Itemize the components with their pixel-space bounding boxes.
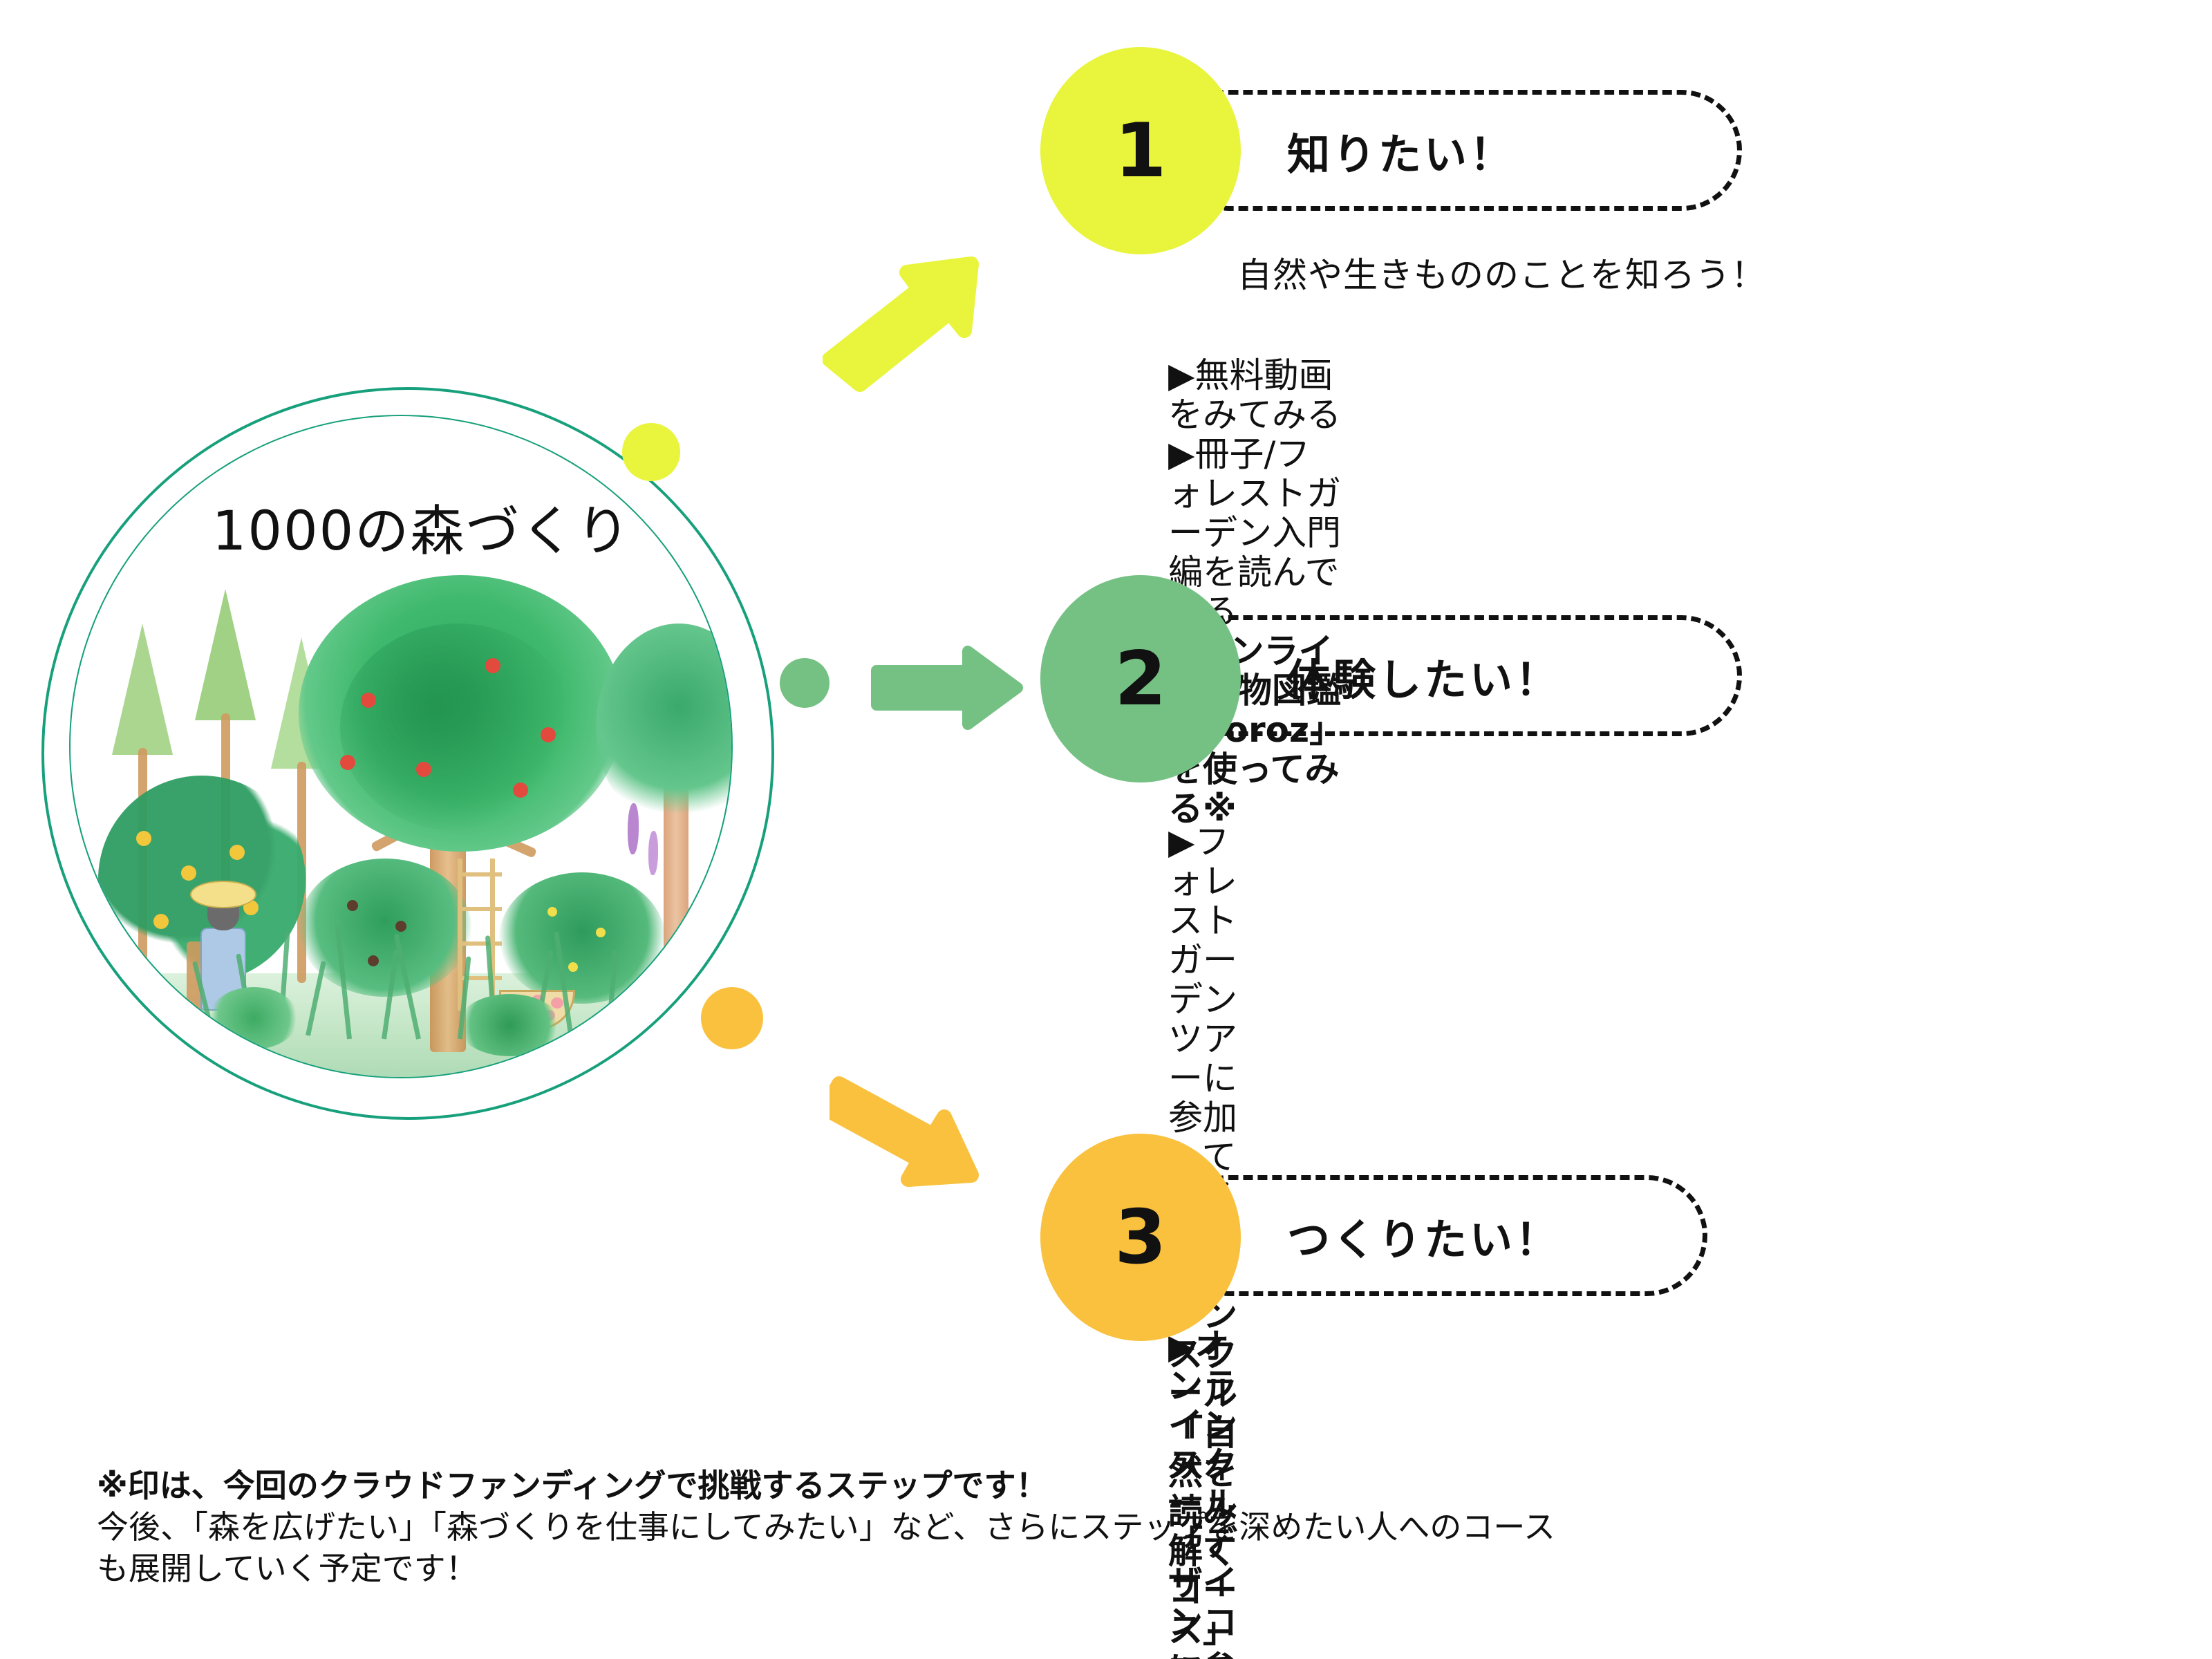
step-2-pill[interactable]: 体験したい！ xyxy=(1168,615,1742,736)
footer-line-2: 今後、「森を広げたい」「森づくりを仕事にしてみたい」など、さらにステップを深めた… xyxy=(97,1507,2157,1548)
citrus-fruit xyxy=(153,914,169,929)
citrus-fruit xyxy=(181,865,196,881)
step-3-heading: つくりたい！ xyxy=(1287,1205,1561,1267)
arrow-to-step-1-icon xyxy=(823,256,1002,394)
illustration-title: 1000の森づくり xyxy=(180,488,664,565)
step-3-number-badge[interactable]: 3 xyxy=(1040,1134,1241,1341)
tree-berry xyxy=(513,782,528,798)
step-1-pill[interactable]: 知りたい！ xyxy=(1168,90,1742,211)
shrub-berry xyxy=(347,900,358,911)
tree-berry xyxy=(485,658,500,673)
tree-berry xyxy=(416,762,431,777)
step-1-number-badge[interactable]: 1 xyxy=(1040,47,1241,254)
shrub-berry xyxy=(368,955,379,966)
tree-trunk xyxy=(187,941,202,1052)
gardener-hat xyxy=(190,881,256,908)
footer-line-3: も展開していく予定です！ xyxy=(97,1548,2157,1590)
conifer-tree xyxy=(195,589,256,720)
step-3-pill[interactable]: つくりたい！ xyxy=(1168,1175,1707,1296)
citrus-fruit xyxy=(136,831,151,846)
yellow-flower-shrub xyxy=(499,872,665,1004)
yellow-dot-icon xyxy=(622,423,680,481)
forest-illustration: 1000の森づくり xyxy=(41,387,802,1147)
shrub-flower xyxy=(547,907,557,917)
step-1-heading: 知りたい！ xyxy=(1287,120,1515,182)
lavender-spike xyxy=(648,831,658,875)
shrub-flower xyxy=(568,962,578,972)
orange-dot-icon xyxy=(701,987,763,1049)
step-2-number-badge[interactable]: 2 xyxy=(1040,575,1241,782)
shrub-berry xyxy=(395,921,406,932)
tree-berry xyxy=(340,755,355,770)
green-dot-icon xyxy=(780,658,829,708)
main-tree-canopy xyxy=(340,624,575,831)
shrub-flower xyxy=(596,928,606,937)
groundcover xyxy=(209,987,299,1049)
step-1-number: 1 xyxy=(1114,108,1166,194)
tree-berry xyxy=(541,727,556,742)
tree-berry xyxy=(361,693,376,708)
lavender-spike xyxy=(628,803,639,854)
tree-canopy xyxy=(596,624,731,831)
conifer-tree xyxy=(112,624,173,755)
groundcover xyxy=(458,994,561,1056)
arrow-to-step-3-icon xyxy=(829,1058,988,1189)
arrow-to-step-2-icon xyxy=(871,643,1023,733)
step-3-number: 3 xyxy=(1114,1194,1166,1281)
footer-line-1: ※印は、今回のクラウドファンディングで挑戦するステップです！ xyxy=(97,1465,2157,1507)
footer-note: ※印は、今回のクラウドファンディングで挑戦するステップです！ 今後、「森を広げた… xyxy=(97,1465,2157,1589)
citrus-fruit xyxy=(229,845,245,860)
list-item[interactable]: ▶無料動画をみてみる xyxy=(1168,356,1344,435)
step-2-heading: 体験したい！ xyxy=(1287,645,1561,707)
step-1-lead: 自然や生きもののことを知ろう！ xyxy=(1237,247,1766,297)
infographic-root: 1000の森づくり 知りたい！ 1 自然や生きもののことを知ろう！ ▶無料動画を… xyxy=(0,0,2212,1659)
step-2-number: 2 xyxy=(1114,636,1166,722)
berry-shrub xyxy=(299,859,471,997)
